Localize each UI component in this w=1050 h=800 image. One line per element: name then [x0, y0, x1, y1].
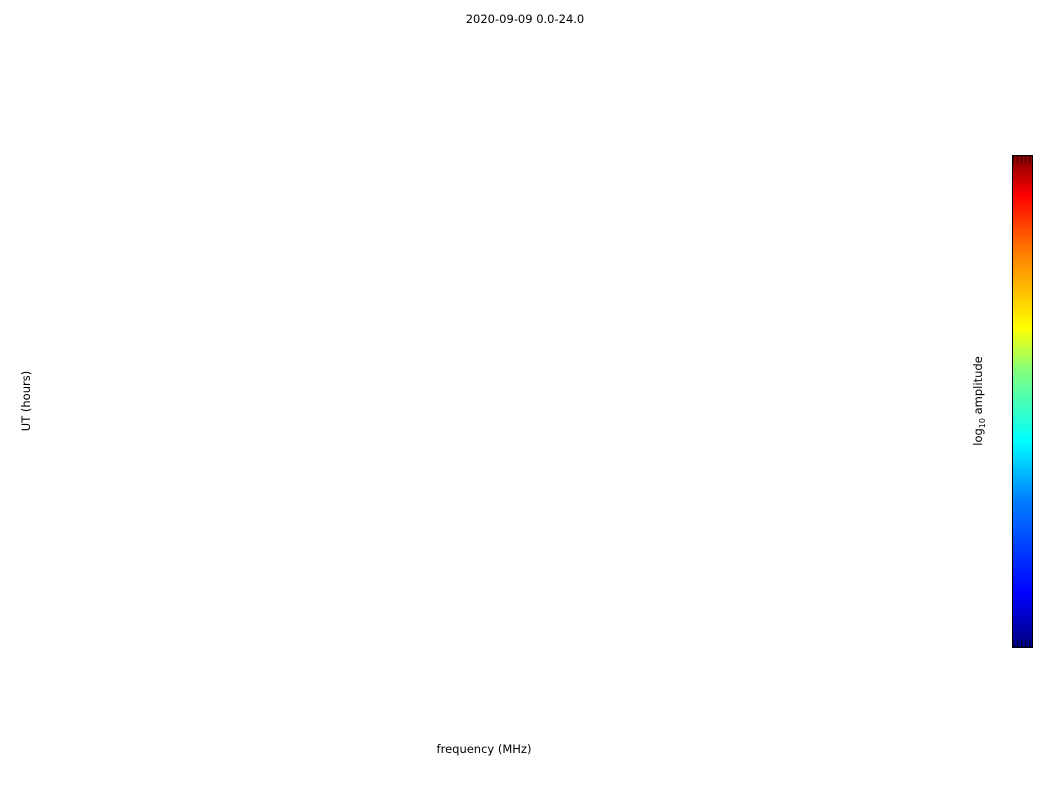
colorbar-extend-top [1013, 156, 1032, 163]
colorbar-title-main: log [971, 428, 985, 446]
x-axis-title: frequency (MHz) [437, 742, 532, 756]
colorbar-title-sub: 10 [978, 418, 987, 428]
figure-canvas: 2020-09-09 0.0-24.0 UT (hours) frequency… [0, 0, 1050, 800]
figure-suptitle: 2020-09-09 0.0-24.0 [0, 12, 1050, 26]
colorbar-title-tail: amplitude [971, 356, 985, 418]
colorbar-extend-bottom [1013, 640, 1032, 647]
y-axis-title: UT (hours) [19, 371, 33, 431]
colorbar[interactable] [1012, 155, 1033, 648]
colorbar-title: log10 amplitude [971, 356, 987, 446]
